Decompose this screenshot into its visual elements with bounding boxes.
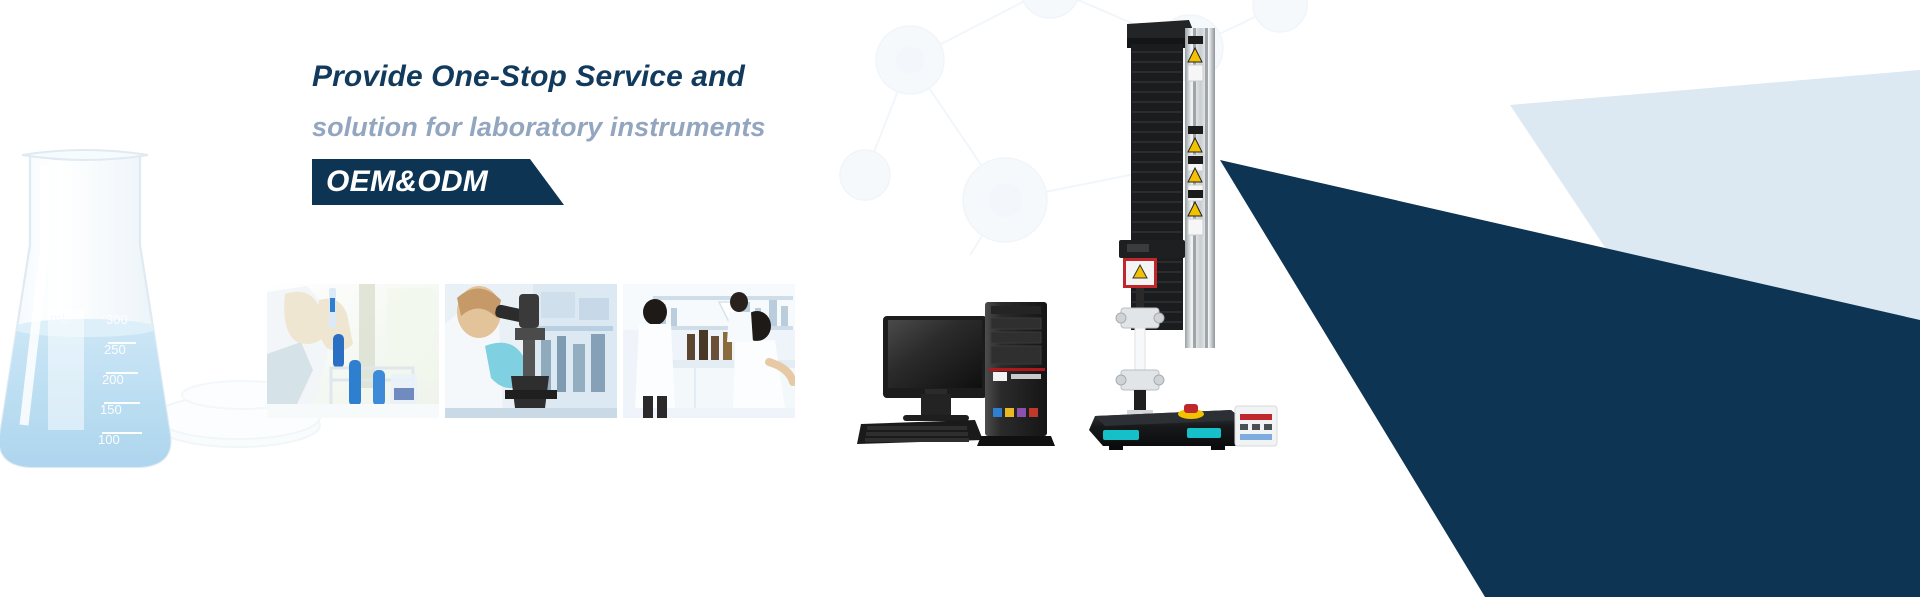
- product-group: [845, 0, 1405, 597]
- photo-microscope-analysis: [445, 284, 617, 418]
- warning-label: [1188, 190, 1203, 235]
- lab-photo-strip: [267, 284, 795, 418]
- svg-text:300: 300: [106, 312, 128, 327]
- oem-odm-badge-label: OEM&ODM: [312, 165, 488, 199]
- svg-text:250: 250: [104, 342, 126, 357]
- svg-text:100: 100: [98, 432, 120, 447]
- oem-odm-badge: OEM&ODM: [312, 159, 564, 205]
- photo-laboratory-workers: [623, 284, 795, 418]
- svg-text:200: 200: [102, 372, 124, 387]
- desktop-computer: [855, 290, 1085, 450]
- triangle-light: [1510, 70, 1920, 420]
- warning-label: [1188, 126, 1203, 171]
- svg-text:150: 150: [100, 402, 122, 417]
- warning-label: [1188, 36, 1203, 81]
- oem-odm-badge-wrap: OEM&ODM: [312, 159, 564, 205]
- hero-banner: 300 250 200 150 100 mL Provide One-Stop …: [0, 0, 1920, 597]
- universal-testing-machine: [1085, 10, 1315, 450]
- photo-pipetting-test-tubes: [267, 284, 439, 418]
